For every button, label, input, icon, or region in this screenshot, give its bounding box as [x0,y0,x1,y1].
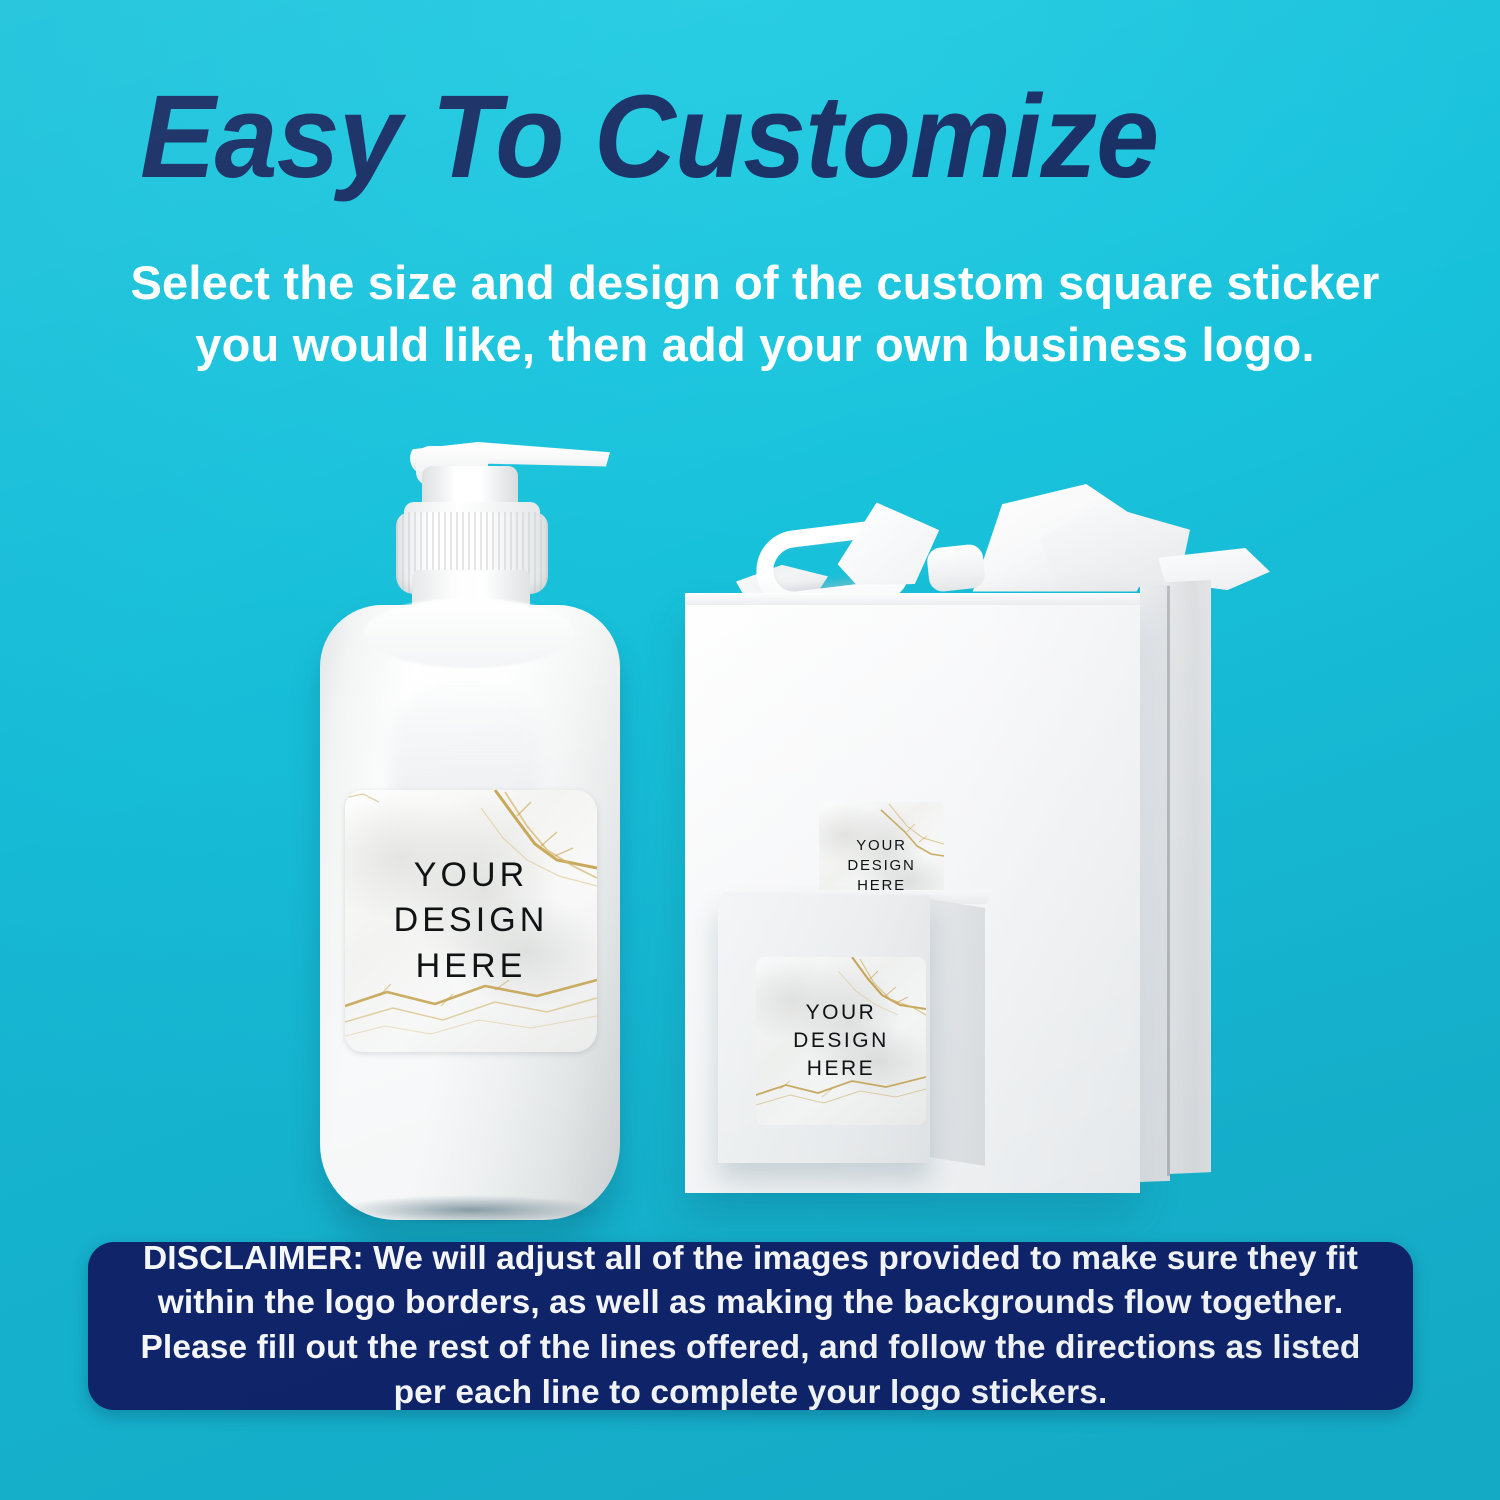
bow-knot [926,543,986,593]
pump-bottle-mockup: YOUR DESIGN HERE [300,420,650,1220]
page-subtitle: Select the size and design of the custom… [110,252,1400,376]
product-mockup-scene: YOUR DESIGN HERE [0,395,1500,1225]
sticker-on-bottle: YOUR DESIGN HERE [345,790,597,1052]
sticker-text: YOUR DESIGN HERE [345,790,597,1052]
sticker-line-2: DESIGN [394,898,549,944]
poster-background: Easy To Customize Select the size and de… [0,0,1500,1500]
sticker-line-3: HERE [807,1055,875,1083]
disclaimer-text: DISCLAIMER: We will adjust all of the im… [88,1237,1413,1415]
small-box-side-panel [929,899,985,1166]
gift-box-seam [1167,586,1170,1176]
sticker-line-3: HERE [416,944,527,990]
sticker-line-2: DESIGN [793,1027,889,1055]
bottle-contact-shadow [336,1195,604,1225]
sticker-line-1: YOUR [414,853,529,899]
bottle-shoulder-highlight [364,598,574,668]
small-box-mockup: YOUR DESIGN HERE [700,890,1000,1200]
sticker-line-1: YOUR [856,836,907,856]
sticker-on-small-box: YOUR DESIGN HERE [756,957,926,1125]
disclaimer-label: DISCLAIMER: [143,1240,364,1277]
gift-box-side-panel [1140,585,1170,1182]
sticker-line-1: YOUR [806,999,877,1027]
disclaimer-banner: DISCLAIMER: We will adjust all of the im… [88,1242,1413,1410]
gift-box-back-panel [1169,580,1211,1174]
page-title: Easy To Customize [140,78,1350,196]
sticker-line-2: DESIGN [847,856,915,876]
sticker-text: YOUR DESIGN HERE [756,957,926,1125]
small-box-front-panel: YOUR DESIGN HERE [718,895,930,1163]
